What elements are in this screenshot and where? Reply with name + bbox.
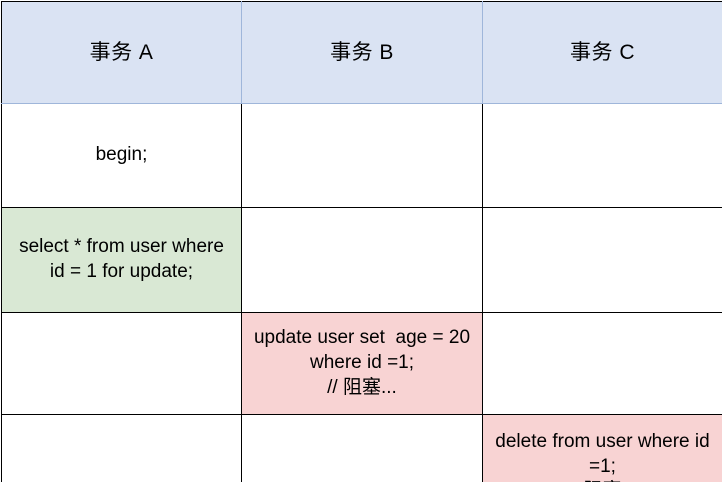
column-header-transaction-b: 事务 B xyxy=(242,2,483,104)
column-header-transaction-c: 事务 C xyxy=(483,2,722,104)
cell-b-empty-2 xyxy=(242,208,483,313)
table-header: 事务 A 事务 B 事务 C xyxy=(2,2,722,104)
cell-a-begin: begin; xyxy=(2,104,242,208)
transaction-comparison-table: 事务 A 事务 B 事务 C begin; select * from user… xyxy=(1,1,722,482)
column-header-transaction-a: 事务 A xyxy=(2,2,242,104)
cell-c-empty-1 xyxy=(483,104,722,208)
cell-c-delete-blocked: delete from user where id =1; // 阻塞... xyxy=(483,415,722,482)
table-body: begin; select * from user where id = 1 f… xyxy=(2,104,722,482)
table-row: select * from user where id = 1 for upda… xyxy=(2,208,722,313)
table-header-row: 事务 A 事务 B 事务 C xyxy=(2,2,722,104)
table-row: update user set age = 20 where id =1; //… xyxy=(2,313,722,415)
transaction-table-container: 事务 A 事务 B 事务 C begin; select * from user… xyxy=(0,0,722,482)
cell-a-empty-4 xyxy=(2,415,242,482)
cell-b-empty-1 xyxy=(242,104,483,208)
cell-b-empty-4 xyxy=(242,415,483,482)
cell-c-empty-2 xyxy=(483,208,722,313)
table-row: delete from user where id =1; // 阻塞... xyxy=(2,415,722,482)
cell-a-select-for-update: select * from user where id = 1 for upda… xyxy=(2,208,242,313)
cell-c-empty-3 xyxy=(483,313,722,415)
cell-b-update-blocked: update user set age = 20 where id =1; //… xyxy=(242,313,483,415)
cell-a-empty-3 xyxy=(2,313,242,415)
table-row: begin; xyxy=(2,104,722,208)
